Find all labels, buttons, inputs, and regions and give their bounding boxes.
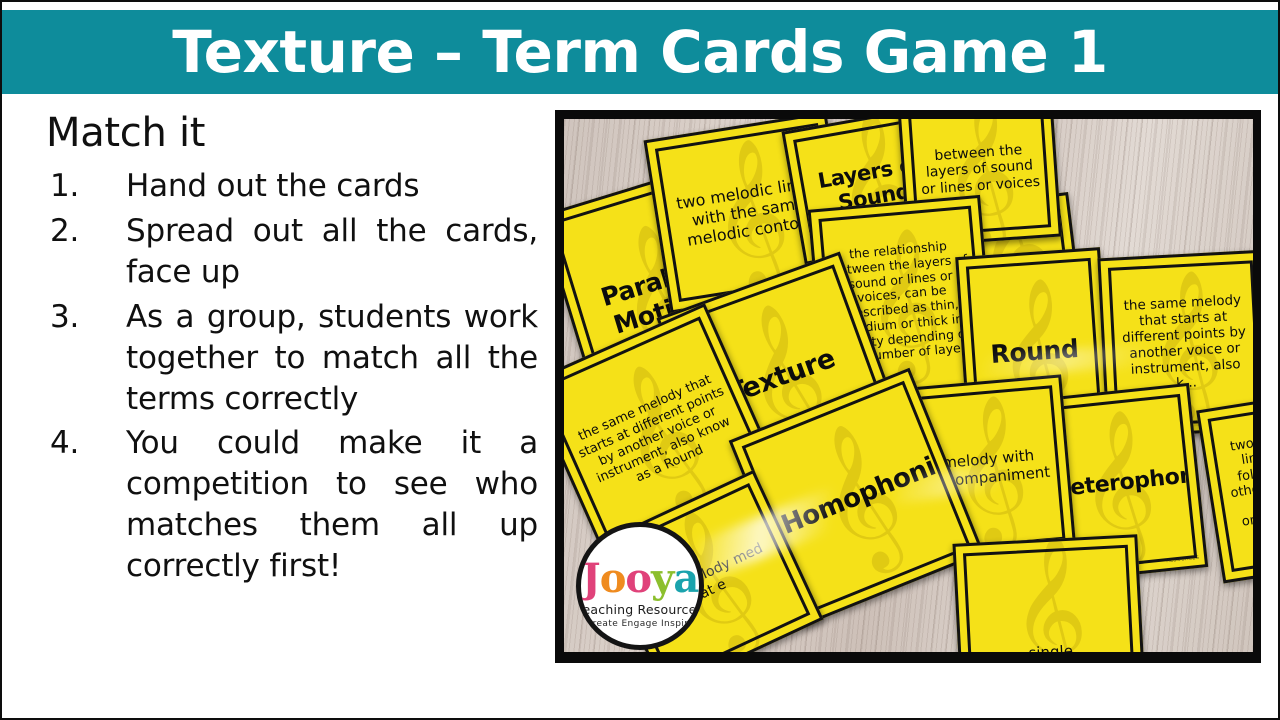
step-text: Spread out all the cards, face up [126,211,538,293]
card-text: between the layers of sound or lines or … [918,141,1040,199]
card-text: two melodic lines that follow each other… [1219,426,1253,547]
logo-letter: o [625,555,651,602]
term-cards-photo: 𝄞 𝄞 Parallel Motion 𝄞 two melodic lines … [564,119,1253,652]
instructions-heading: Match it [46,110,538,156]
step-text: You could make it a competition to see w… [126,423,538,587]
card-text: Homophonic [777,453,936,541]
logo-letter: a [673,555,698,602]
logo-letter: y [651,555,673,602]
list-item: Hand out the cards [46,166,538,207]
list-item: You could make it a competition to see w… [46,423,538,587]
page-title: Texture – Term Cards Game 1 [172,23,1108,81]
jooya-logo: Jooya Teaching Resources Create Engage I… [576,522,704,650]
instructions-panel: Match it Hand out the cards Spread out a… [46,110,538,591]
logo-letter: J [582,555,600,602]
slide-canvas: Texture – Term Cards Game 1 Match it Han… [0,0,1280,720]
instructions-list: Hand out the cards Spread out all the ca… [46,166,538,587]
card-single-partial: 𝄞 single [952,534,1144,652]
slide-title-bar: Texture – Term Cards Game 1 [2,10,1278,94]
step-text: As a group, students work together to ma… [126,297,538,420]
list-item: Spread out all the cards, face up [46,211,538,293]
card-text: the same melody that starts at different… [569,369,745,504]
step-text: Hand out the cards [126,166,538,207]
logo-subtitle: Teaching Resources [577,602,703,617]
logo-letter: o [600,555,626,602]
logo-tagline: Create Engage Inspire [586,619,694,629]
card-text: single [976,640,1126,652]
logo-wordmark: Jooya [582,559,698,599]
list-item: As a group, students work together to ma… [46,297,538,420]
photo-frame: 𝄞 𝄞 Parallel Motion 𝄞 two melodic lines … [555,110,1261,663]
card-text: Round [979,333,1090,370]
card-text: the same melody that starts at different… [1118,293,1252,395]
